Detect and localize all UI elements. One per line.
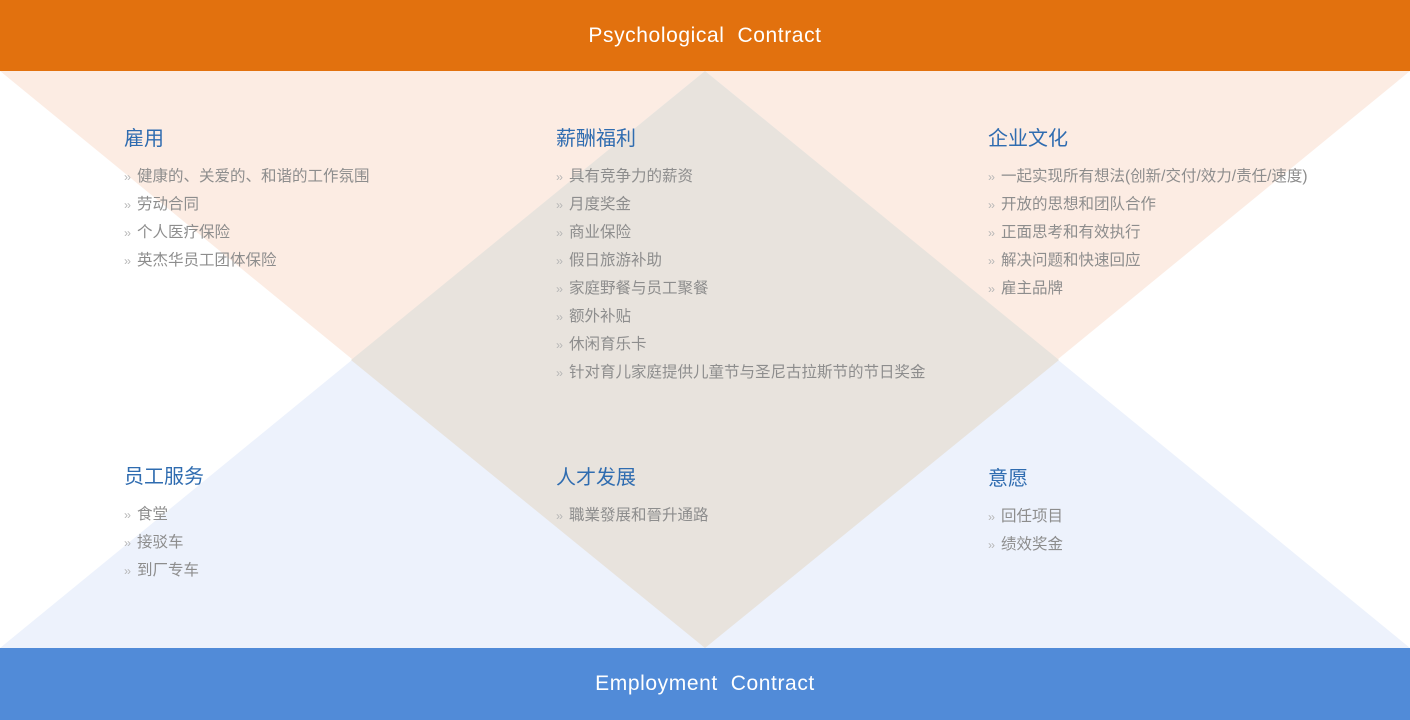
list-item: ›› 家庭野餐与员工聚餐 — [556, 275, 966, 303]
list-item: ›› 回任项目 — [988, 503, 1398, 531]
section-title-employee-services: 员工服务 — [124, 464, 524, 490]
chevron-right-icon: ›› — [124, 501, 130, 529]
list-item: ›› 健康的、关爱的、和谐的工作氛围 — [124, 163, 524, 191]
list-item-label: 家庭野餐与员工聚餐 — [569, 275, 966, 303]
chevron-right-icon: ›› — [556, 247, 562, 275]
chevron-right-icon: ›› — [556, 502, 562, 530]
list-item: ›› 绩效奖金 — [988, 531, 1398, 559]
chevron-right-icon: ›› — [988, 503, 994, 531]
item-list-employment: ›› 健康的、关爱的、和谐的工作氛围 ›› 劳动合同 ›› 个人医疗保险 ›› … — [124, 163, 524, 275]
list-item: ›› 商业保险 — [556, 219, 966, 247]
footer-title: Employment Contract — [595, 672, 815, 696]
chevron-right-icon: ›› — [556, 331, 562, 359]
list-item: ›› 食堂 — [124, 501, 524, 529]
chevron-right-icon: ›› — [124, 191, 130, 219]
list-item: ›› 雇主品牌 — [988, 275, 1398, 303]
list-item: ›› 额外补贴 — [556, 303, 966, 331]
list-item: ›› 一起实现所有想法(创新/交付/效力/责任/速度) — [988, 163, 1398, 191]
section-corporate-culture: 企业文化 ›› 一起实现所有想法(创新/交付/效力/责任/速度) ›› 开放的思… — [988, 126, 1398, 303]
section-talent-development: 人才发展 ›› 職業發展和晉升通路 — [556, 465, 966, 530]
chevron-right-icon: ›› — [124, 557, 130, 585]
chevron-right-icon: ›› — [556, 191, 562, 219]
list-item-label: 雇主品牌 — [1001, 275, 1398, 303]
psychological-contract-banner: Psychological Contract — [0, 0, 1410, 71]
list-item-label: 个人医疗保险 — [137, 219, 524, 247]
list-item-label: 额外补贴 — [569, 303, 966, 331]
list-item: ›› 休闲育乐卡 — [556, 331, 966, 359]
list-item-label: 職業發展和晉升通路 — [569, 502, 966, 530]
list-item: ›› 劳动合同 — [124, 191, 524, 219]
list-item-label: 一起实现所有想法(创新/交付/效力/责任/速度) — [1001, 163, 1398, 191]
list-item: ›› 接驳车 — [124, 529, 524, 557]
section-title-talent-development: 人才发展 — [556, 465, 966, 491]
list-item-label: 接驳车 — [137, 529, 524, 557]
item-list-talent-development: ›› 職業發展和晉升通路 — [556, 502, 966, 530]
list-item-label: 劳动合同 — [137, 191, 524, 219]
list-item-label: 英杰华员工团体保险 — [137, 247, 524, 275]
section-title-willingness: 意愿 — [988, 466, 1398, 492]
list-item: ›› 针对育儿家庭提供儿童节与圣尼古拉斯节的节日奖金 — [556, 359, 966, 387]
chevron-right-icon: ›› — [988, 247, 994, 275]
list-item: ›› 个人医疗保险 — [124, 219, 524, 247]
list-item-label: 食堂 — [137, 501, 524, 529]
section-compensation-benefits: 薪酬福利 ›› 具有竞争力的薪资 ›› 月度奖金 ›› 商业保险 ›› 假日旅游… — [556, 126, 966, 387]
sections-grid: 雇用 ›› 健康的、关爱的、和谐的工作氛围 ›› 劳动合同 ›› 个人医疗保险 … — [0, 71, 1410, 648]
list-item: ›› 解决问题和快速回应 — [988, 247, 1398, 275]
item-list-willingness: ›› 回任项目 ›› 绩效奖金 — [988, 503, 1398, 559]
list-item: ›› 職業發展和晉升通路 — [556, 502, 966, 530]
employment-contract-banner: Employment Contract — [0, 648, 1410, 720]
list-item-label: 到厂专车 — [137, 557, 524, 585]
section-employee-services: 员工服务 ›› 食堂 ›› 接驳车 ›› 到厂专车 — [124, 464, 524, 585]
chevron-right-icon: ›› — [124, 163, 130, 191]
chevron-right-icon: ›› — [124, 219, 130, 247]
slide-canvas: Psychological Contract 雇用 ›› 健康的、关爱的、和谐的… — [0, 0, 1410, 720]
list-item-label: 具有竞争力的薪资 — [569, 163, 966, 191]
list-item-label: 针对育儿家庭提供儿童节与圣尼古拉斯节的节日奖金 — [569, 359, 966, 387]
chevron-right-icon: ›› — [988, 163, 994, 191]
list-item-label: 健康的、关爱的、和谐的工作氛围 — [137, 163, 524, 191]
section-title-corporate-culture: 企业文化 — [988, 126, 1398, 152]
header-title: Psychological Contract — [588, 24, 821, 48]
chevron-right-icon: ›› — [556, 303, 562, 331]
chevron-right-icon: ›› — [988, 275, 994, 303]
list-item-label: 商业保险 — [569, 219, 966, 247]
list-item-label: 假日旅游补助 — [569, 247, 966, 275]
list-item: ›› 假日旅游补助 — [556, 247, 966, 275]
chevron-right-icon: ›› — [124, 247, 130, 275]
item-list-compensation-benefits: ›› 具有竞争力的薪资 ›› 月度奖金 ›› 商业保险 ›› 假日旅游补助 ›› — [556, 163, 966, 387]
list-item: ›› 正面思考和有效执行 — [988, 219, 1398, 247]
item-list-employee-services: ›› 食堂 ›› 接驳车 ›› 到厂专车 — [124, 501, 524, 585]
list-item: ›› 英杰华员工团体保险 — [124, 247, 524, 275]
chevron-right-icon: ›› — [124, 529, 130, 557]
list-item-label: 回任项目 — [1001, 503, 1398, 531]
section-employment: 雇用 ›› 健康的、关爱的、和谐的工作氛围 ›› 劳动合同 ›› 个人医疗保险 … — [124, 126, 524, 275]
list-item-label: 休闲育乐卡 — [569, 331, 966, 359]
list-item-label: 绩效奖金 — [1001, 531, 1398, 559]
list-item: ›› 具有竞争力的薪资 — [556, 163, 966, 191]
list-item: ›› 到厂专车 — [124, 557, 524, 585]
section-title-employment: 雇用 — [124, 126, 524, 152]
chevron-right-icon: ›› — [556, 163, 562, 191]
chevron-right-icon: ›› — [988, 219, 994, 247]
chevron-right-icon: ›› — [988, 191, 994, 219]
list-item-label: 月度奖金 — [569, 191, 966, 219]
list-item: ›› 开放的思想和团队合作 — [988, 191, 1398, 219]
list-item-label: 正面思考和有效执行 — [1001, 219, 1398, 247]
list-item-label: 开放的思想和团队合作 — [1001, 191, 1398, 219]
chevron-right-icon: ›› — [988, 531, 994, 559]
item-list-corporate-culture: ›› 一起实现所有想法(创新/交付/效力/责任/速度) ›› 开放的思想和团队合… — [988, 163, 1398, 303]
section-title-compensation-benefits: 薪酬福利 — [556, 126, 966, 152]
list-item-label: 解决问题和快速回应 — [1001, 247, 1398, 275]
list-item: ›› 月度奖金 — [556, 191, 966, 219]
chevron-right-icon: ›› — [556, 275, 562, 303]
chevron-right-icon: ›› — [556, 359, 562, 387]
section-willingness: 意愿 ›› 回任项目 ›› 绩效奖金 — [988, 466, 1398, 559]
chevron-right-icon: ›› — [556, 219, 562, 247]
